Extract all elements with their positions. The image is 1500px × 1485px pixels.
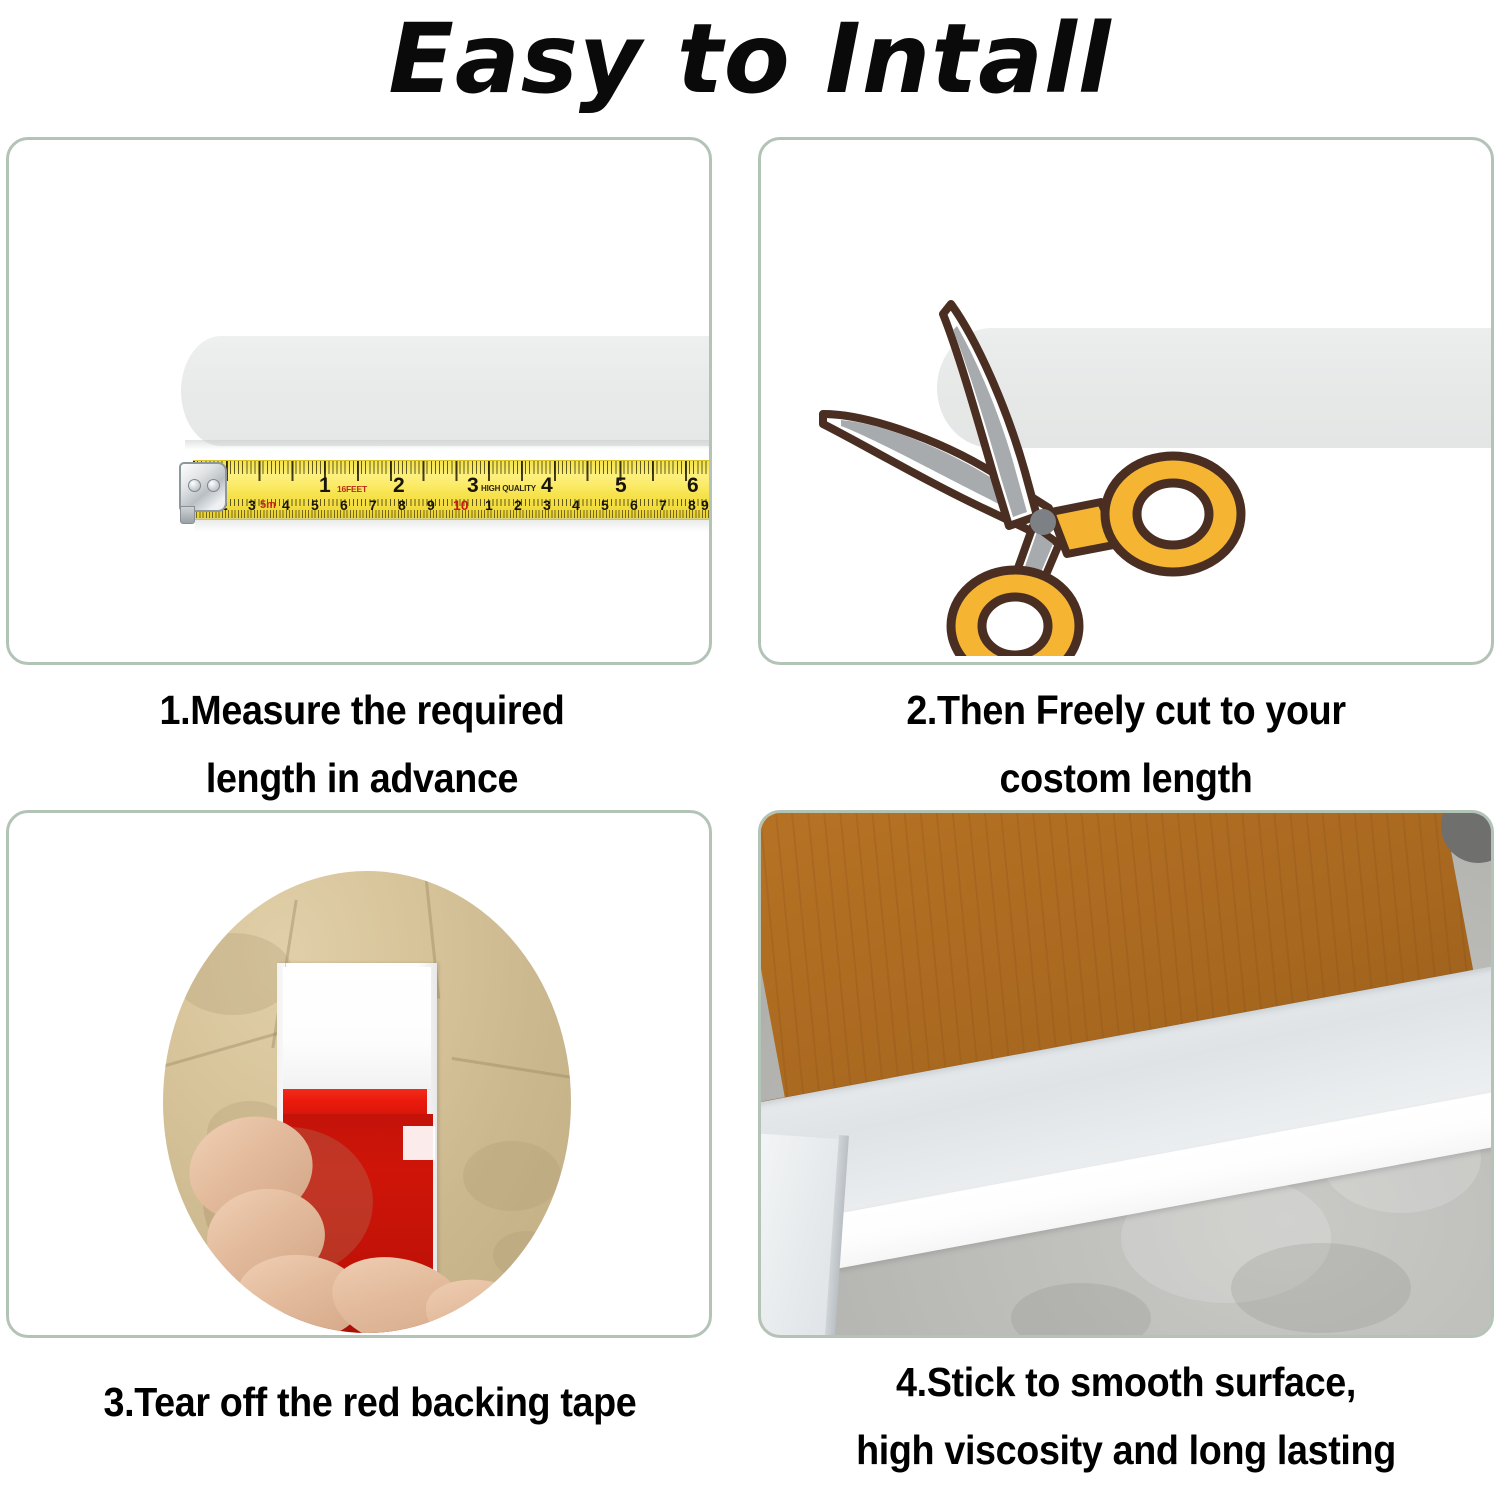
tape-brand-label: 16FEET — [337, 484, 367, 494]
step-4-illustration-panel — [758, 810, 1494, 1338]
stone-texture — [452, 1057, 571, 1080]
stone-texture — [493, 1231, 559, 1279]
tape-quality-label: HIGH QUALITY — [481, 484, 536, 493]
step-2-caption: 2.Then Freely cut to your costom length — [782, 676, 1470, 812]
step-4-caption: 4.Stick to smooth surface, high viscosit… — [782, 1348, 1470, 1484]
tape-metric-number: 2 — [514, 498, 522, 512]
step-2-illustration-panel — [758, 137, 1494, 665]
trim-strip-shadow — [185, 440, 712, 450]
trim-strip-graphic — [181, 336, 712, 446]
concrete-texture — [1231, 1243, 1411, 1333]
tape-measure-hook-lip — [180, 506, 195, 524]
step-3-caption: 3.Tear off the red backing tape — [30, 1368, 711, 1436]
tape-ticks-tall — [193, 461, 712, 481]
red-backing-tape-fold — [283, 1089, 427, 1115]
tape-metric-number: 7 — [369, 498, 377, 512]
installed-baseboard-trim-photo — [761, 813, 1491, 1335]
tape-imperial-number: 6 — [687, 475, 699, 496]
tape-metric-number: 9 — [701, 498, 709, 512]
tape-metric-number: 5 — [601, 498, 609, 512]
tape-metric-number: 4 — [572, 498, 580, 512]
tape-imperial-number: 5 — [615, 475, 627, 496]
tape-metric-number: 6 — [630, 498, 638, 512]
tape-imperial-number: 3 — [467, 475, 479, 496]
tape-metric-number: 7 — [659, 498, 667, 512]
tape-measure-icon: 1 2 3 4 5 6 7 16FEET HIGH QUALITY 5m 2 3… — [179, 458, 712, 520]
tape-metric-number-highlight: 10 — [453, 498, 469, 512]
page-title: Easy to Intall — [0, 2, 1500, 117]
step-1-caption: 1.Measure the required length in advance — [29, 676, 695, 812]
tape-measure-shadow — [195, 518, 712, 532]
tape-metric-number: 6 — [340, 498, 348, 512]
caption-line: costom length — [782, 744, 1470, 812]
caption-line: high viscosity and long lasting — [782, 1416, 1470, 1484]
tape-metric-number: 8 — [398, 498, 406, 512]
step-3-illustration-panel — [6, 810, 712, 1338]
trim-peeled-face — [283, 967, 431, 1090]
tape-metric-number: 3 — [543, 498, 551, 512]
stone-texture — [463, 1141, 561, 1211]
tape-measure-hook — [179, 462, 227, 512]
scissors-icon — [801, 296, 1271, 656]
tape-metric-number: 5 — [311, 498, 319, 512]
tape-imperial-number: 2 — [393, 475, 405, 496]
tape-metric-number: 9 — [427, 498, 435, 512]
tape-metric-number: 3 — [248, 498, 256, 512]
hand-peeling-red-tape-photo — [163, 871, 571, 1333]
stone-texture — [173, 933, 293, 1015]
step-1-illustration-panel: 1 2 3 4 5 6 7 16FEET HIGH QUALITY 5m 2 3… — [6, 137, 712, 665]
tape-imperial-number: 4 — [541, 475, 553, 496]
trim-notch — [403, 1126, 435, 1160]
tape-metric-number: 8 — [688, 498, 696, 512]
tape-imperial-number: 1 — [319, 475, 331, 496]
caption-line: 1.Measure the required — [29, 676, 695, 744]
tape-metric-unit-label: 5m — [260, 499, 276, 511]
tape-metric-number: 4 — [282, 498, 290, 512]
caption-line: length in advance — [29, 744, 695, 812]
caption-line: 2.Then Freely cut to your — [782, 676, 1470, 744]
tape-metric-number: 1 — [485, 498, 493, 512]
caption-line: 3.Tear off the red backing tape — [30, 1368, 711, 1436]
caption-line: 4.Stick to smooth surface, — [782, 1348, 1470, 1416]
